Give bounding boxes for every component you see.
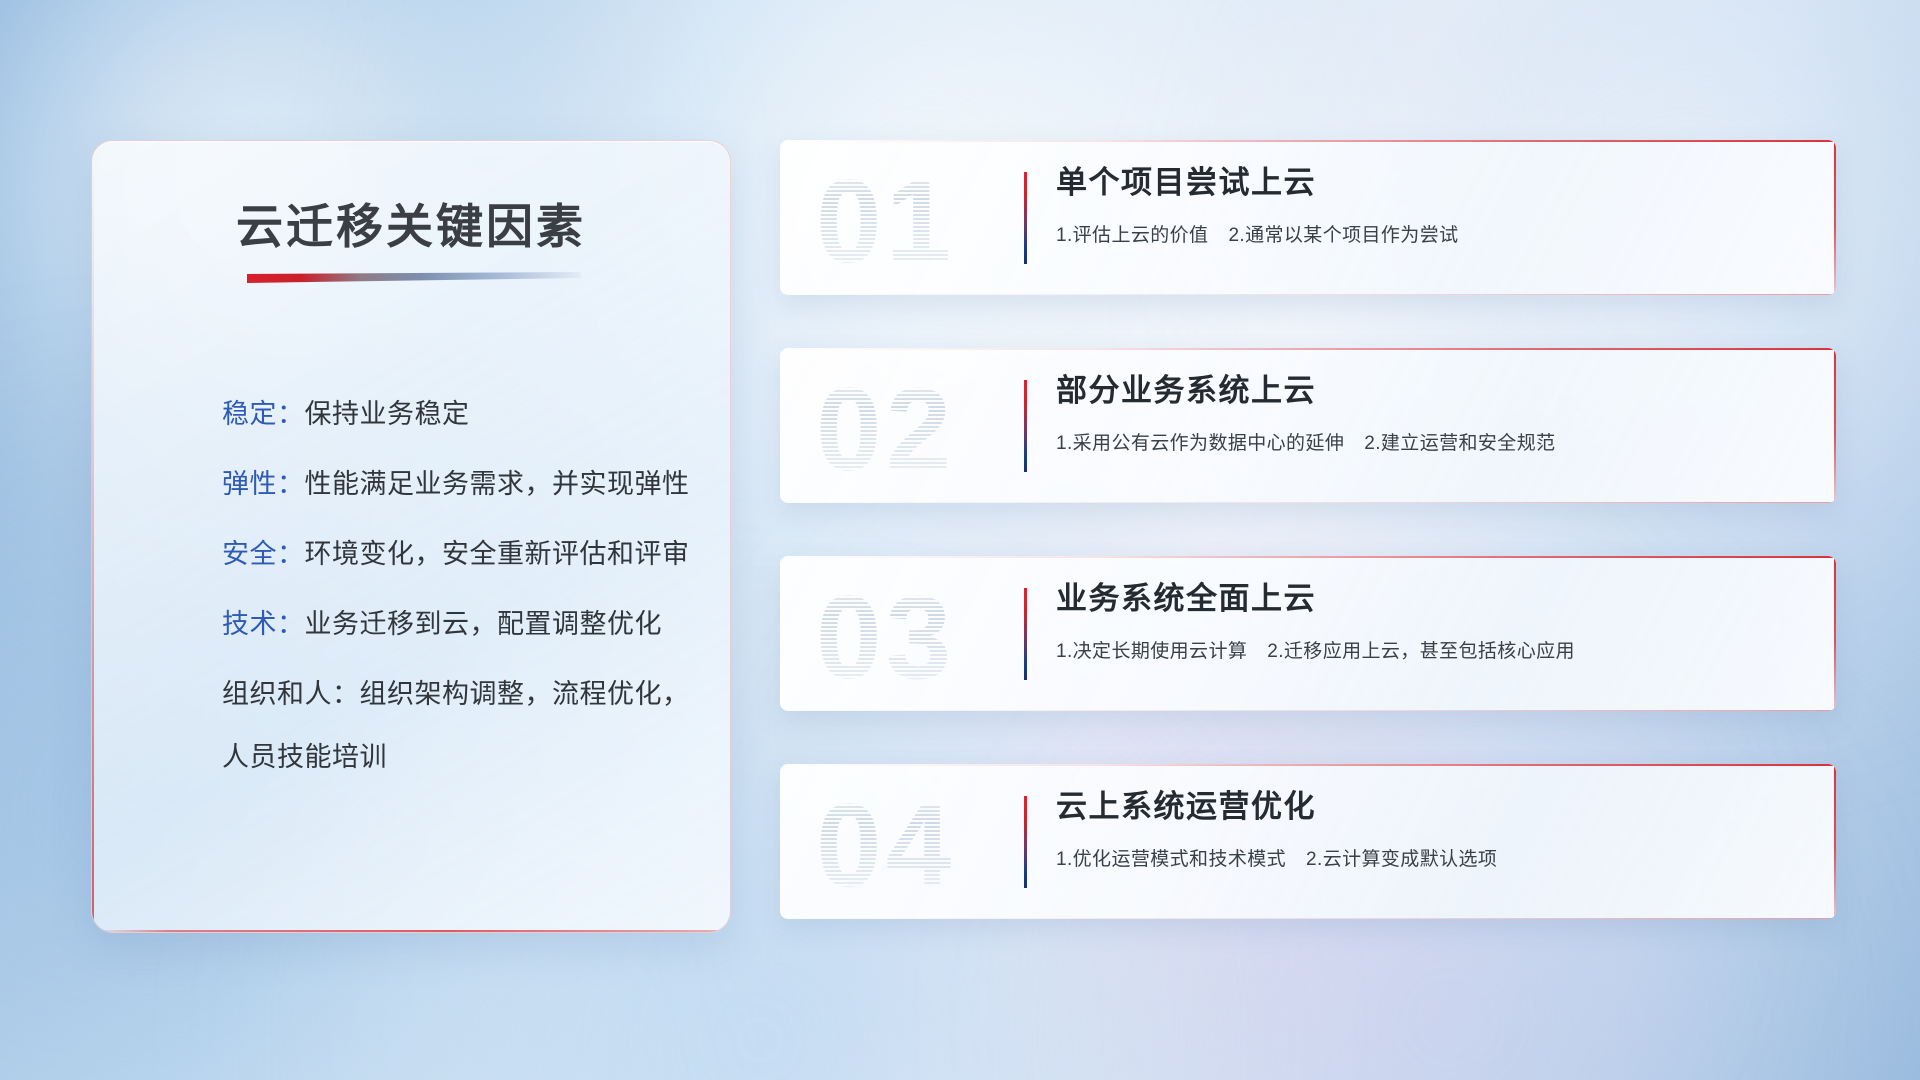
title-underline-rule [247,272,581,284]
step-point-1: 1.评估上云的价值 [1056,225,1208,246]
card-bottom-accent [780,710,1836,711]
step-point-1: 1.采用公有云作为数据中心的延伸 [1056,433,1344,454]
factor-list: 稳定：保持业务稳定 弹性：性能满足业务需求，并实现弹性 安全：环境变化，安全重新… [222,401,690,814]
factor-label: 安全： [222,539,305,569]
step-description: 1.决定长期使用云计算2.迁移应用上云，甚至包括核心应用 [1056,636,1796,663]
svg-text:02: 02 [816,364,955,490]
factor-item-continuation: 人员技能培训 [222,744,690,771]
factor-item: 技术：业务迁移到云，配置调整优化 [222,611,690,638]
factor-label: 弹性： [222,469,305,499]
step-number-02-icon: 02 [814,362,984,490]
step-card-02[interactable]: 02 部分业务系统上云 1.采用公有云作为数据中心的延伸2.建立运营和安全规范 [780,348,1836,503]
step-card-03[interactable]: 03 业务系统全面上云 1.决定长期使用云计算2.迁移应用上云，甚至包括核心应用 [780,556,1836,711]
step-point-2: 2.建立运营和安全规范 [1364,433,1555,454]
step-card-01[interactable]: 01 单个项目尝试上云 1.评估上云的价值2.通常以某个项目作为尝试 [780,140,1836,295]
card-right-accent [1834,348,1836,503]
card-bottom-accent [780,502,1836,503]
factor-label: 稳定： [222,399,305,429]
key-factors-card: 云迁移关键因素 稳定：保持业务稳定 [91,140,731,933]
card-top-accent [780,140,1836,142]
card-accent-bar [1024,380,1027,472]
step-description: 1.采用公有云作为数据中心的延伸2.建立运营和安全规范 [1056,428,1796,455]
card-top-accent [780,764,1836,766]
factor-item: 组织和人：组织架构调整，流程优化， [222,681,690,708]
step-point-2: 2.通常以某个项目作为尝试 [1228,225,1458,246]
card-bottom-accent [780,294,1836,295]
factor-label: 组织和人： [222,679,360,709]
step-card-04[interactable]: 04 云上系统运营优化 1.优化运营模式和技术模式2.云计算变成默认选项 [780,764,1836,919]
factor-label: 技术： [222,609,305,639]
factor-value: 业务迁移到云，配置调整优化 [305,609,663,639]
step-number-04-icon: 04 [814,778,984,906]
step-title: 部分业务系统上云 [1056,372,1796,411]
step-number-01-icon: 01 [814,154,984,282]
svg-text:03: 03 [816,572,955,698]
card-bottom-accent [780,918,1836,919]
factor-value: 人员技能培训 [222,742,387,772]
factor-item: 弹性：性能满足业务需求，并实现弹性 [222,471,690,498]
factor-value: 组织架构调整，流程优化， [360,679,690,709]
step-point-2: 2.迁移应用上云，甚至包括核心应用 [1267,641,1575,662]
step-content: 部分业务系统上云 1.采用公有云作为数据中心的延伸2.建立运营和安全规范 [1056,372,1796,455]
svg-text:01: 01 [816,156,955,282]
card-accent-bar [1024,172,1027,264]
card-top-accent [780,556,1836,558]
step-content: 单个项目尝试上云 1.评估上云的价值2.通常以某个项目作为尝试 [1056,164,1796,247]
factor-value: 性能满足业务需求，并实现弹性 [305,469,690,499]
card-accent-bar [1024,796,1027,888]
page-title: 云迁移关键因素 [92,188,730,257]
factor-value: 保持业务稳定 [305,399,470,429]
card-right-accent [1834,764,1836,919]
step-point-1: 1.优化运营模式和技术模式 [1056,849,1286,870]
factor-item: 稳定：保持业务稳定 [222,401,690,428]
step-point-2: 2.云计算变成默认选项 [1306,849,1497,870]
card-right-accent [1834,140,1836,295]
step-content: 云上系统运营优化 1.优化运营模式和技术模式2.云计算变成默认选项 [1056,788,1796,871]
svg-text:04: 04 [816,780,955,906]
card-accent-bar [1024,588,1027,680]
card-right-accent [1834,556,1836,711]
slide-stage: 云迁移关键因素 稳定：保持业务稳定 [0,0,1920,1080]
card-top-accent [780,348,1836,350]
step-point-1: 1.决定长期使用云计算 [1056,641,1247,662]
factor-item: 安全：环境变化，安全重新评估和评审 [222,541,690,568]
step-title: 单个项目尝试上云 [1056,164,1796,203]
factor-value: 环境变化，安全重新评估和评审 [305,539,690,569]
step-description: 1.评估上云的价值2.通常以某个项目作为尝试 [1056,220,1796,247]
step-number-03-icon: 03 [814,570,984,698]
step-title: 云上系统运营优化 [1056,788,1796,827]
step-title: 业务系统全面上云 [1056,580,1796,619]
step-description: 1.优化运营模式和技术模式2.云计算变成默认选项 [1056,844,1796,871]
step-content: 业务系统全面上云 1.决定长期使用云计算2.迁移应用上云，甚至包括核心应用 [1056,580,1796,663]
